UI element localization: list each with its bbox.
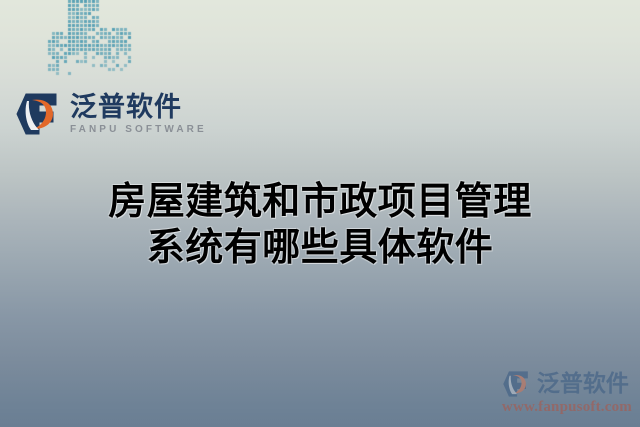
watermark: 泛普软件 www.fanpusoft.com xyxy=(502,370,632,415)
page-title: 房屋建筑和市政项目管理 系统有哪些具体软件 xyxy=(0,178,640,270)
brand-name-en: FANPU SOFTWARE xyxy=(70,125,207,135)
watermark-name-cn: 泛普软件 xyxy=(537,373,629,396)
brand-wordmark: 泛普软件 FANPU SOFTWARE xyxy=(70,94,207,135)
page-title-line-1: 房屋建筑和市政项目管理 xyxy=(0,178,640,224)
page-title-line-2: 系统有哪些具体软件 xyxy=(0,224,640,270)
brand-logo: 泛普软件 FANPU SOFTWARE xyxy=(15,92,207,136)
watermark-logo-row: 泛普软件 xyxy=(502,370,632,398)
poster-canvas: 泛普软件 FANPU SOFTWARE 房屋建筑和市政项目管理 系统有哪些具体软… xyxy=(0,0,640,427)
pixel-building-skyline-icon xyxy=(44,0,136,86)
fanpu-logo-mark-icon xyxy=(15,92,61,136)
watermark-url: www.fanpusoft.com xyxy=(502,400,632,415)
brand-name-cn: 泛普软件 xyxy=(70,94,207,121)
fanpu-logo-mark-watermark-icon xyxy=(502,370,531,398)
